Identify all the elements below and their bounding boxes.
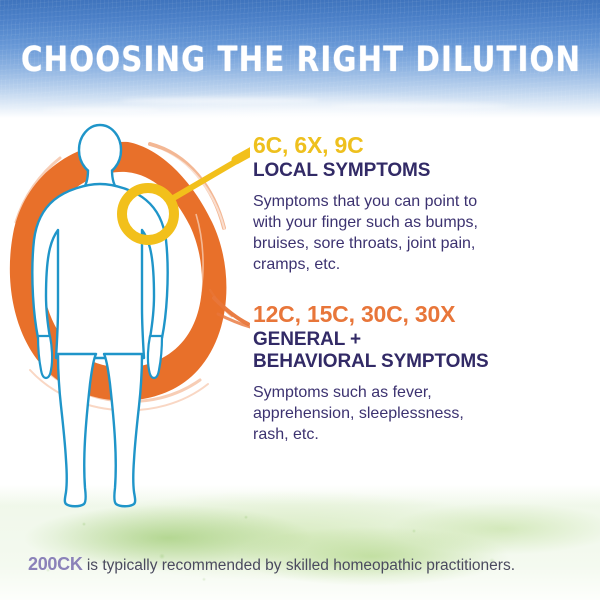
symptom-body-line: cramps, etc. xyxy=(253,254,593,275)
header-band: CHOOSING THE RIGHT DILUTION xyxy=(0,0,600,118)
symptom-blocks: 6C, 6X, 9C LOCAL SYMPTOMS Symptoms that … xyxy=(253,132,593,447)
symptom-body-line: apprehension, sleeplessness, xyxy=(253,403,593,424)
header-cloud-wisp xyxy=(40,108,160,112)
symptom-heading-general-line1: GENERAL + xyxy=(253,329,361,350)
symptom-block-general: 12C, 15C, 30C, 30X GENERAL + BEHAVIORAL … xyxy=(253,301,593,445)
footer-dilution-code: 200CK xyxy=(28,554,83,574)
symptom-block-local: 6C, 6X, 9C LOCAL SYMPTOMS Symptoms that … xyxy=(253,132,593,275)
header-cloud-wisp xyxy=(330,104,510,108)
symptom-body-line: rash, etc. xyxy=(253,424,593,445)
footer-note: 200CK is typically recommended by skille… xyxy=(28,554,588,576)
header-cloud-wisp xyxy=(120,98,320,103)
symptom-heading-general-line2: BEHAVIORAL SYMPTOMS xyxy=(253,351,593,373)
symptom-heading-general: GENERAL + BEHAVIORAL SYMPTOMS xyxy=(253,329,593,373)
symptom-heading-local: LOCAL SYMPTOMS xyxy=(253,160,593,182)
footer-note-text: is typically recommended by skilled home… xyxy=(83,557,515,574)
symptom-heading-local-line1: LOCAL SYMPTOMS xyxy=(253,160,430,181)
dilution-codes-local: 6C, 6X, 9C xyxy=(253,132,593,159)
symptom-body-line: bruises, sore throats, joint pain, xyxy=(253,233,593,254)
yellow-pointer-line-taper xyxy=(236,150,250,160)
symptom-body-line: Symptoms such as fever, xyxy=(253,382,593,403)
illustration-group xyxy=(0,118,250,518)
dilution-codes-general: 12C, 15C, 30C, 30X xyxy=(253,301,593,328)
symptom-body-general: Symptoms such as fever, apprehension, sl… xyxy=(253,382,593,445)
symptom-body-local: Symptoms that you can point to with your… xyxy=(253,191,593,275)
symptom-body-line: with your finger such as bumps, xyxy=(253,212,593,233)
infographic-canvas: CHOOSING THE RIGHT DILUTION xyxy=(0,0,600,600)
page-title: CHOOSING THE RIGHT DILUTION xyxy=(21,40,579,80)
symptom-body-line: Symptoms that you can point to xyxy=(253,191,593,212)
